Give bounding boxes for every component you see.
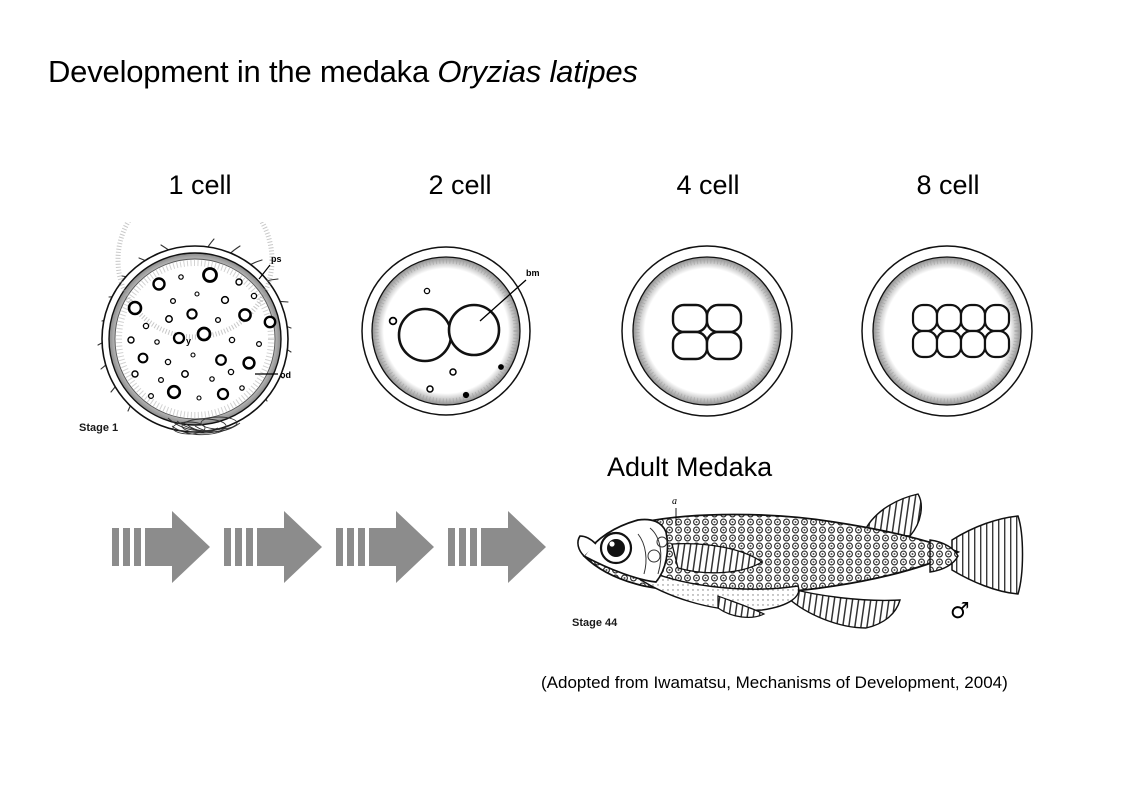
stage-label-2-cell: 2 cell: [380, 170, 540, 201]
stage-label-8-cell: 8 cell: [868, 170, 1028, 201]
page-title: Development in the medaka Oryzias latipe…: [48, 54, 638, 90]
progression-arrow-1: [110, 509, 215, 590]
embryo-1-cell-svg: ps y od Stage 1: [73, 222, 308, 440]
embryo-illustration-4-cell: [617, 243, 802, 423]
title-main-text: Development in the medaka: [48, 54, 437, 89]
stage-label-1-cell: 1 cell: [120, 170, 280, 201]
progression-arrow-3: [334, 509, 439, 590]
embryo-8-cell-svg: [857, 243, 1042, 418]
striped-arrow-right-icon: [222, 509, 327, 585]
progression-arrow-4: [446, 509, 551, 590]
embryo-illustration-1-cell: ps y od Stage 1: [73, 222, 308, 445]
citation-text: (Adopted from Iwamatsu, Mechanisms of De…: [541, 673, 1008, 693]
annotation-bm-text: bm: [526, 268, 540, 278]
slide-canvas: Development in the medaka Oryzias latipe…: [0, 0, 1123, 794]
fish-eye-pupil: [607, 539, 625, 557]
male-sex-symbol: ♂: [950, 599, 970, 624]
chorion-inner: [633, 257, 781, 405]
annotation-a-text: a: [672, 496, 677, 507]
annotation-ps-text: ps: [271, 254, 282, 264]
annotation-y-text: y: [186, 336, 191, 346]
embryo-4-cell-svg: [617, 243, 802, 418]
caudal-fin: [952, 516, 1023, 594]
striped-arrow-right-icon: [334, 509, 439, 585]
annotation-od-text: od: [280, 370, 291, 380]
embryo-illustration-2-cell: bm: [358, 243, 563, 423]
progression-arrow-2: [222, 509, 327, 590]
title-species-text: Oryzias latipes: [437, 54, 637, 89]
embryo-illustration-8-cell: [857, 243, 1042, 423]
stage-44-caption: Stage 44: [572, 617, 618, 629]
adult-fish-illustration: a ♂ Stage 44: [566, 478, 1056, 648]
embryo-2-cell-svg: bm: [358, 243, 563, 418]
annotation-y: y: [186, 336, 191, 346]
striped-arrow-right-icon: [110, 509, 215, 585]
stage-1-caption: Stage 1: [79, 422, 118, 434]
stage-label-4-cell: 4 cell: [628, 170, 788, 201]
medaka-fish-svg: a ♂ Stage 44: [566, 478, 1056, 643]
fish-eye-highlight: [609, 541, 614, 546]
anal-fin: [788, 588, 900, 628]
striped-arrow-right-icon: [446, 509, 551, 585]
